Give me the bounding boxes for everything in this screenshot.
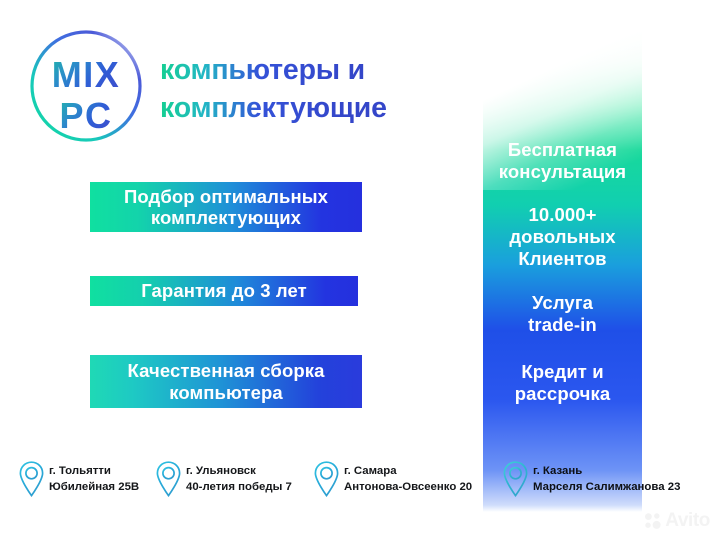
- feature-line: Качественная сборка: [128, 360, 325, 381]
- feature-banner-text: Гарантия до 3 лет: [141, 280, 307, 301]
- brand-tagline: компьютеры и комплектующие: [160, 52, 470, 127]
- feature-line: компьютера: [128, 382, 325, 403]
- benefit-line: довольных: [483, 226, 642, 248]
- benefit-line: Кредит и: [483, 361, 642, 383]
- feature-banner-text: Подбор оптимальных комплектующих: [124, 186, 328, 229]
- location-item-kazan: г. Казань Марселя Салимжанова 23: [502, 460, 680, 498]
- map-pin-icon: [313, 460, 340, 498]
- location-city: г. Ульяновск: [186, 463, 292, 479]
- benefits-list: Бесплатная консультация 10.000+ довольны…: [483, 0, 642, 512]
- location-address: Антонова-Овсеенко 20: [344, 479, 472, 495]
- feature-line: Подбор оптимальных: [124, 186, 328, 207]
- feature-banner-text: Качественная сборка компьютера: [128, 360, 325, 403]
- locations-bar: г. Тольятти Юбилейная 25В г. Ульяновск 4: [0, 460, 720, 516]
- benefit-item-consultation: Бесплатная консультация: [483, 139, 642, 183]
- logo-text-pc: PC: [59, 95, 112, 136]
- location-item-tolyatti: г. Тольятти Юбилейная 25В: [18, 460, 139, 498]
- map-pin-icon: [18, 460, 45, 498]
- location-text: г. Ульяновск 40-летия победы 7: [186, 463, 292, 495]
- benefit-line: Услуга: [483, 292, 642, 314]
- map-pin-icon: [155, 460, 182, 498]
- benefit-line: 10.000+: [483, 204, 642, 226]
- tagline-line: комплектующие: [160, 90, 470, 128]
- benefit-line: консультация: [483, 161, 642, 183]
- location-address: 40-летия победы 7: [186, 479, 292, 495]
- map-pin-icon: [502, 460, 529, 498]
- feature-banner-assembly: Качественная сборка компьютера: [90, 355, 362, 408]
- location-text: г. Тольятти Юбилейная 25В: [49, 463, 139, 495]
- location-address: Марселя Салимжанова 23: [533, 479, 680, 495]
- benefit-line: Клиентов: [483, 248, 642, 270]
- logo-text-mix: MIX: [52, 54, 121, 95]
- location-item-samara: г. Самара Антонова-Овсеенко 20: [313, 460, 472, 498]
- location-city: г. Казань: [533, 463, 680, 479]
- feature-line: Гарантия до 3 лет: [141, 280, 307, 301]
- location-item-ulyanovsk: г. Ульяновск 40-летия победы 7: [155, 460, 292, 498]
- benefit-line: Бесплатная: [483, 139, 642, 161]
- benefit-line: trade-in: [483, 314, 642, 336]
- feature-banner-components: Подбор оптимальных комплектующих: [90, 182, 362, 232]
- location-text: г. Самара Антонова-Овсеенко 20: [344, 463, 472, 495]
- logo-svg: MIX PC: [24, 27, 148, 145]
- benefit-item-tradein: Услуга trade-in: [483, 292, 642, 336]
- benefit-item-clients: 10.000+ довольных Клиентов: [483, 204, 642, 269]
- brand-logo: MIX PC: [24, 27, 148, 145]
- feature-banner-warranty: Гарантия до 3 лет: [90, 276, 358, 306]
- feature-line: комплектующих: [124, 207, 328, 228]
- tagline-line: компьютеры и: [160, 52, 470, 90]
- location-city: г. Тольятти: [49, 463, 139, 479]
- location-text: г. Казань Марселя Салимжанова 23: [533, 463, 680, 495]
- location-city: г. Самара: [344, 463, 472, 479]
- location-address: Юбилейная 25В: [49, 479, 139, 495]
- advertisement-poster: Бесплатная консультация 10.000+ довольны…: [0, 0, 720, 540]
- benefit-line: рассрочка: [483, 383, 642, 405]
- benefit-item-credit: Кредит и рассрочка: [483, 361, 642, 405]
